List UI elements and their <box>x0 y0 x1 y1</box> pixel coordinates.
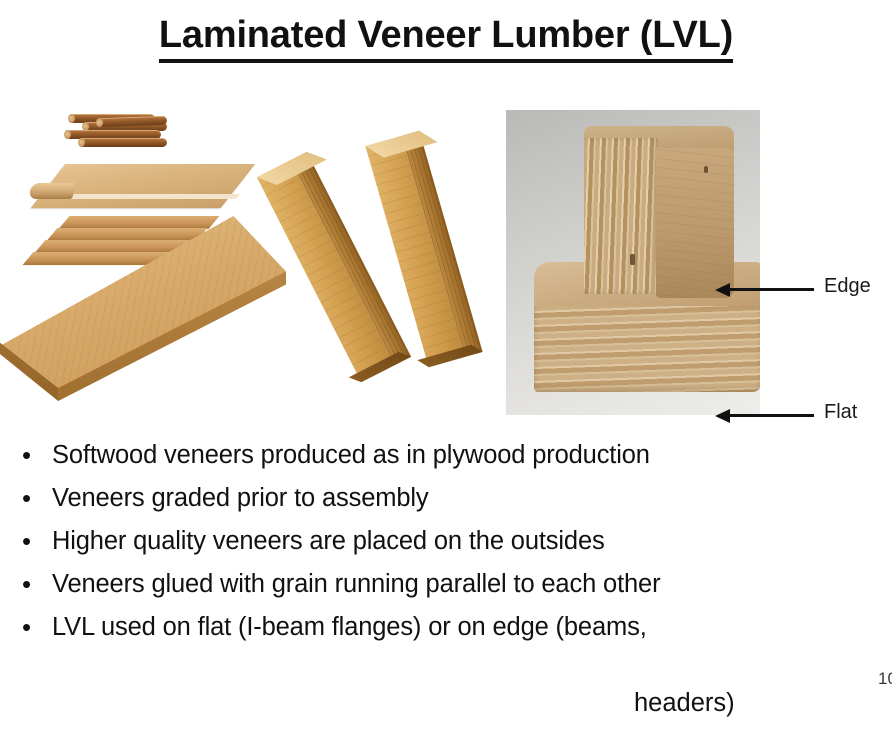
figure-band: Edge Flat <box>0 100 892 425</box>
list-item: • Veneers graded prior to assembly <box>22 481 882 515</box>
lvl-block-on-edge <box>584 126 734 294</box>
bullet-marker: • <box>22 524 52 558</box>
bullet-marker: • <box>22 438 52 472</box>
peeled-veneer-sheet-illustration <box>30 164 240 216</box>
bullet-marker: • <box>22 610 52 644</box>
bullet-list: • Softwood veneers produced as in plywoo… <box>22 438 882 653</box>
callout-line <box>726 288 814 291</box>
lvl-blocks-edge-and-flat-photo <box>506 110 760 415</box>
list-item: • Higher quality veneers are placed on t… <box>22 524 882 558</box>
callout-line <box>726 414 814 417</box>
list-item-label: LVL used on flat (I-beam flanges) or on … <box>52 610 647 644</box>
log-pile-illustration <box>63 114 173 150</box>
two-lvl-beams-photo <box>292 100 504 420</box>
list-item-label: Higher quality veneers are placed on the… <box>52 524 605 558</box>
callout-edge-label: Edge <box>824 275 871 298</box>
page-title-text: Laminated Veneer Lumber (LVL) <box>159 15 733 63</box>
list-item-label: Veneers glued with grain running paralle… <box>52 567 660 601</box>
finished-lvl-panel-illustration <box>0 216 286 401</box>
page-title: Laminated Veneer Lumber (LVL) <box>0 14 892 63</box>
list-item: • LVL used on flat (I-beam flanges) or o… <box>22 610 882 644</box>
list-item-label: Softwood veneers produced as in plywood … <box>52 438 650 472</box>
list-item: • Softwood veneers produced as in plywoo… <box>22 438 882 472</box>
page-number: 10 <box>878 669 892 689</box>
list-item-label: Veneers graded prior to assembly <box>52 481 429 515</box>
exploded-veneer-panel-diagram <box>0 104 290 414</box>
bullet-marker: • <box>22 481 52 515</box>
bullet-marker: • <box>22 567 52 601</box>
list-item-continuation: headers) <box>634 686 735 720</box>
list-item: • Veneers glued with grain running paral… <box>22 567 882 601</box>
callout-flat-label: Flat <box>824 401 857 424</box>
